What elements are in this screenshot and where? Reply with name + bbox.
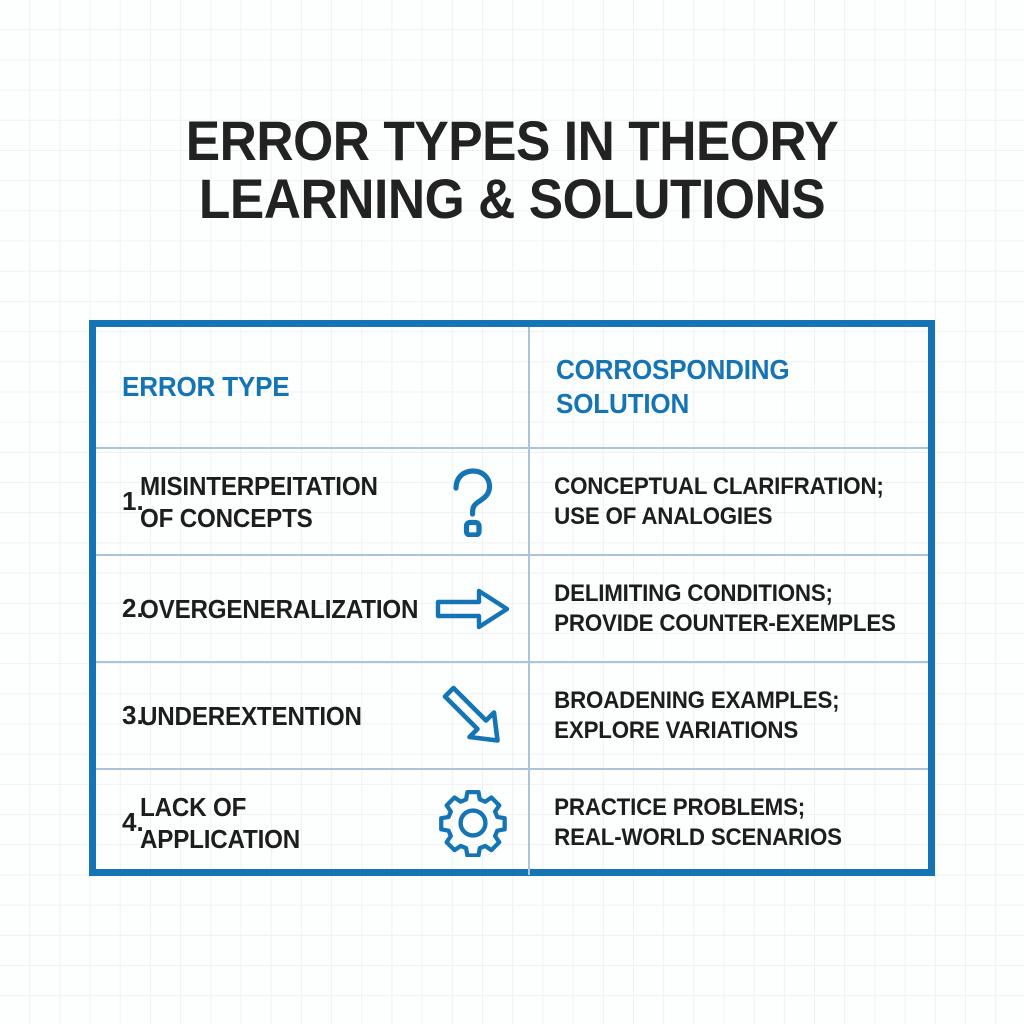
table-row: 2. OVERGENERALIZATION DELIMITING CONDITI… — [96, 554, 928, 661]
table-row: 4. LACK OF APPLICATION PRACTICE PROBLEMS… — [96, 768, 928, 875]
row-4-solution-text: PRACTICE PROBLEMS; REAL-WORLD SCENARIOS — [530, 793, 842, 853]
header-cell-error-type: ERROR TYPE — [96, 327, 530, 447]
page-title-line-2: LEARNING & SOLUTIONS — [41, 170, 983, 228]
error-solution-table: ERROR TYPE CORROSPONDING SOLUTION 1. MIS… — [89, 320, 935, 876]
table-row: 3. UNDEREXTENTION BROADENING EXAMPLES; E… — [96, 661, 928, 768]
page-title: ERROR TYPES IN THEORY LEARNING & SOLUTIO… — [0, 112, 1024, 228]
arrow-down-right-icon — [434, 677, 512, 755]
row-1-number: 1. — [96, 486, 140, 517]
row-1-error-cell: 1. MISINTERPEITATION OF CONCEPTS — [96, 449, 530, 554]
row-1-solution-cell: CONCEPTUAL CLARIFRATION; USE OF ANALOGIE… — [530, 449, 928, 554]
table-row: 1. MISINTERPEITATION OF CONCEPTS CONCEPT… — [96, 447, 928, 554]
header-label-error-type: ERROR TYPE — [96, 370, 289, 404]
header-cell-solution: CORROSPONDING SOLUTION — [530, 327, 928, 447]
row-1-solution-text: CONCEPTUAL CLARIFRATION; USE OF ANALOGIE… — [530, 472, 884, 532]
arrow-right-icon — [434, 570, 512, 648]
row-4-number: 4. — [96, 807, 140, 838]
row-3-number: 3. — [96, 700, 140, 731]
row-3-solution-text: BROADENING EXAMPLES; EXPLORE VARIATIONS — [530, 686, 839, 746]
row-4-solution-cell: PRACTICE PROBLEMS; REAL-WORLD SCENARIOS — [530, 770, 928, 875]
gear-icon — [434, 784, 512, 862]
row-2-error-cell: 2. OVERGENERALIZATION — [96, 556, 530, 661]
row-4-error-cell: 4. LACK OF APPLICATION — [96, 770, 530, 875]
question-mark-icon — [434, 463, 512, 541]
row-2-solution-text: DELIMITING CONDITIONS; PROVIDE COUNTER-E… — [530, 579, 896, 639]
table-header-row: ERROR TYPE CORROSPONDING SOLUTION — [96, 327, 928, 447]
row-2-solution-cell: DELIMITING CONDITIONS; PROVIDE COUNTER-E… — [530, 556, 928, 661]
row-3-solution-cell: BROADENING EXAMPLES; EXPLORE VARIATIONS — [530, 663, 928, 768]
row-2-number: 2. — [96, 593, 140, 624]
page-title-line-1: ERROR TYPES IN THEORY — [41, 112, 983, 170]
header-label-solution: CORROSPONDING SOLUTION — [530, 353, 789, 421]
row-3-error-cell: 3. UNDEREXTENTION — [96, 663, 530, 768]
